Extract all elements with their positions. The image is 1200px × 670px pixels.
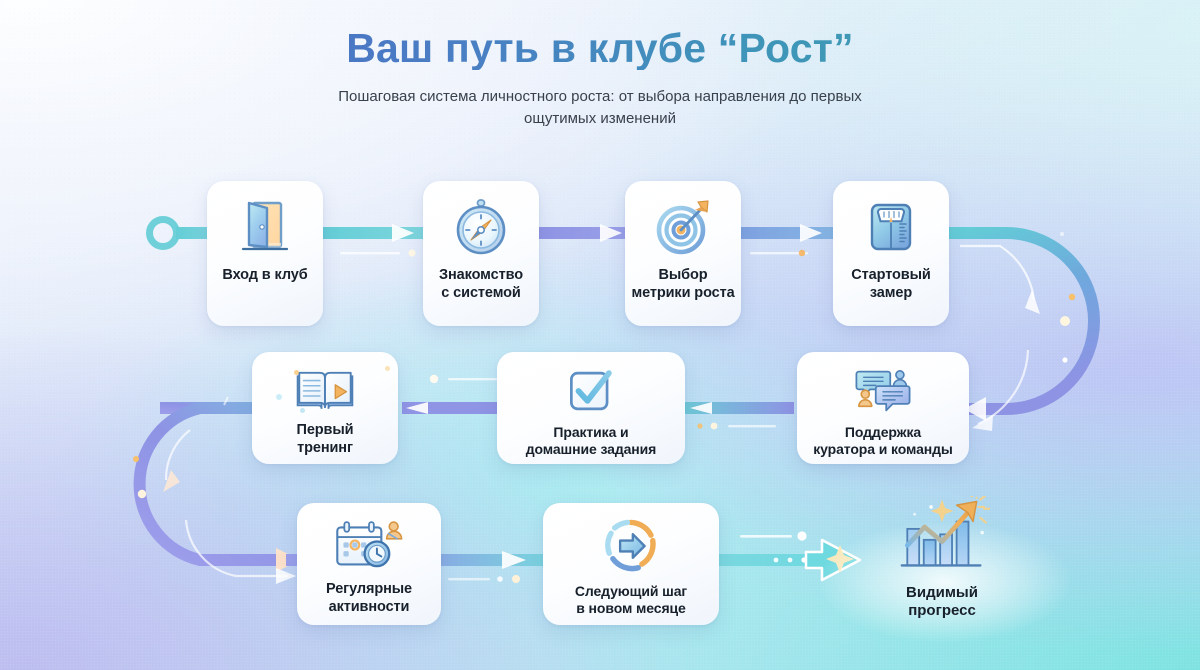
connector-step1-to-step2 bbox=[318, 224, 430, 257]
step-card-3-label: Выбор метрики роста bbox=[625, 267, 740, 302]
goal-label: Видимый прогресс bbox=[906, 584, 978, 621]
step-card-7[interactable]: Первый тренинг bbox=[252, 352, 398, 464]
step-card-5-label: Поддержка куратора и команды bbox=[807, 424, 959, 458]
step-card-8-label: Регулярные активности bbox=[320, 581, 418, 616]
step-card-1-label: Вход в клуб bbox=[216, 267, 313, 285]
checkbox-check-icon bbox=[565, 366, 617, 416]
step-card-3[interactable]: Выбор метрики роста bbox=[625, 181, 741, 326]
step-card-5[interactable]: Поддержка куратора и команды bbox=[797, 352, 969, 464]
calendar-clock-icon bbox=[332, 517, 406, 573]
step-card-6-label: Практика и домашние задания bbox=[520, 424, 662, 458]
connector-step3-to-step4 bbox=[728, 224, 840, 256]
cycle-arrow-icon bbox=[598, 517, 664, 575]
open-book-play-icon bbox=[294, 366, 356, 414]
step-card-9-label: Следующий шаг в новом месяце bbox=[569, 583, 693, 617]
step-card-4[interactable]: Стартовый замер bbox=[833, 181, 949, 326]
step-card-6[interactable]: Практика и домашние задания bbox=[497, 352, 685, 464]
connector-step8-to-step9 bbox=[426, 551, 544, 583]
scale-icon bbox=[859, 195, 923, 259]
growth-chart-icon bbox=[894, 496, 990, 580]
compass-icon bbox=[449, 195, 513, 259]
step-card-4-label: Стартовый замер bbox=[845, 267, 936, 302]
open-door-icon bbox=[233, 195, 297, 259]
step-card-2-label: Знакомство с системой bbox=[433, 267, 529, 302]
connector-step2-to-step3 bbox=[528, 224, 636, 242]
start-dot-icon bbox=[150, 220, 177, 247]
step-card-8[interactable]: Регулярные активности bbox=[297, 503, 441, 625]
connector-step5-to-step6 bbox=[684, 402, 794, 429]
step-card-1[interactable]: Вход в клуб bbox=[207, 181, 323, 326]
step-card-7-label: Первый тренинг bbox=[291, 422, 360, 457]
target-arrow-icon bbox=[651, 195, 715, 259]
connector-row1-to-row2-curve bbox=[948, 233, 1094, 431]
chat-people-icon bbox=[854, 366, 912, 416]
step-card-2[interactable]: Знакомство с системой bbox=[423, 181, 539, 326]
goal-node[interactable]: Видимый прогресс bbox=[852, 496, 1032, 621]
infographic-canvas: Ваш путь в клубе “Рост” Пошаговая систем… bbox=[0, 0, 1200, 670]
connector-step9-to-goal bbox=[716, 531, 860, 580]
step-card-9[interactable]: Следующий шаг в новом месяце bbox=[543, 503, 719, 625]
